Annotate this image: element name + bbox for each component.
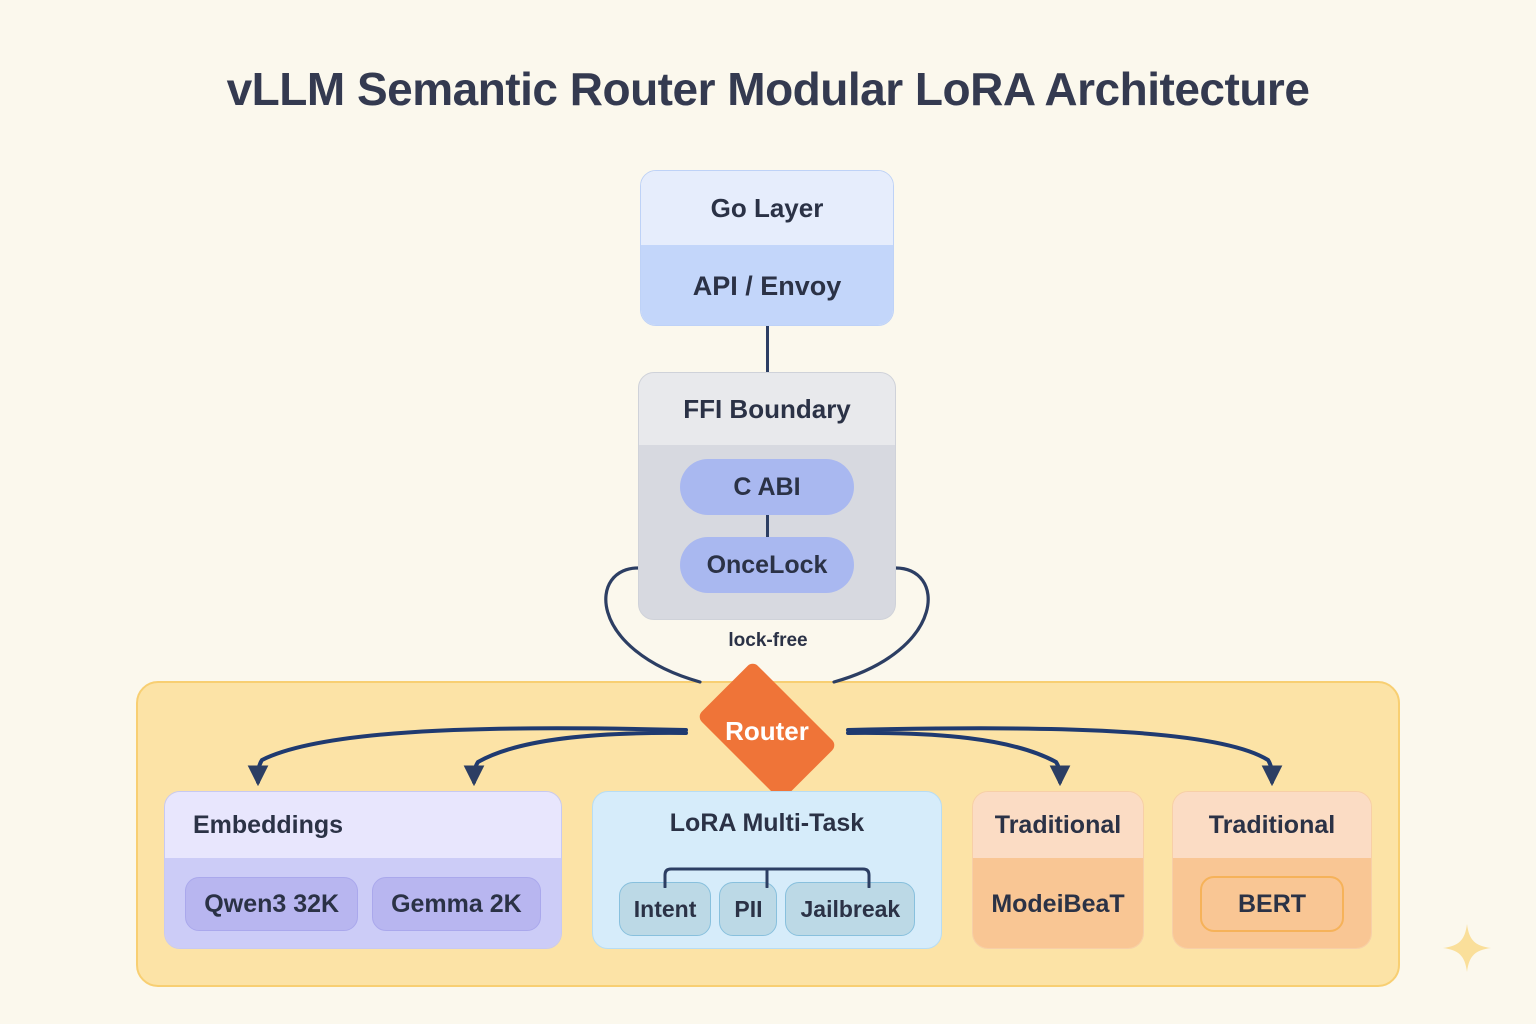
lora-task-bracket [660, 866, 874, 888]
lora-multi-task-header: LoRA Multi-Task [593, 792, 941, 854]
edge-label-lock-free: lock-free [0, 630, 1536, 652]
go-layer-header: Go Layer [641, 171, 893, 245]
traditional-1-body: ModeiBeaT [973, 858, 1143, 949]
pill-oncelock[interactable]: OnceLock [680, 537, 854, 593]
node-router[interactable]: Router [684, 676, 850, 786]
traditional-2-header: Traditional [1173, 792, 1371, 858]
node-go-layer[interactable]: Go Layer API / Envoy [640, 170, 894, 326]
ffi-boundary-header: FFI Boundary [639, 373, 895, 445]
diagram-canvas: vLLM Semantic Router Modular LoRA Archit… [0, 0, 1536, 1024]
node-ffi-boundary[interactable]: FFI Boundary C ABI OnceLock [638, 372, 896, 620]
embeddings-body: Qwen3 32K Gemma 2K [165, 858, 561, 949]
pill-c-abi[interactable]: C ABI [680, 459, 854, 515]
chip-pii[interactable]: PII [719, 882, 777, 936]
page-title: vLLM Semantic Router Modular LoRA Archit… [0, 62, 1536, 116]
sparkle-icon [1441, 922, 1493, 974]
node-traditional-2[interactable]: Traditional BERT [1172, 791, 1372, 949]
chip-qwen3-32k[interactable]: Qwen3 32K [185, 877, 358, 931]
go-layer-body: API / Envoy [641, 245, 893, 326]
chip-bert[interactable]: BERT [1200, 876, 1344, 932]
chip-intent[interactable]: Intent [619, 882, 712, 936]
router-label: Router [684, 676, 850, 786]
traditional-2-body: BERT [1173, 858, 1371, 949]
ffi-boundary-body: C ABI OnceLock [639, 445, 895, 620]
traditional-1-header: Traditional [973, 792, 1143, 858]
chip-gemma-2k[interactable]: Gemma 2K [372, 877, 541, 931]
connector-go-layer-to-ffi [766, 326, 769, 372]
node-embeddings[interactable]: Embeddings Qwen3 32K Gemma 2K [164, 791, 562, 949]
chip-jailbreak[interactable]: Jailbreak [785, 882, 915, 936]
node-traditional-1[interactable]: Traditional ModeiBeaT [972, 791, 1144, 949]
connector-c-abi-to-oncelock [766, 515, 769, 537]
embeddings-header: Embeddings [165, 792, 561, 858]
